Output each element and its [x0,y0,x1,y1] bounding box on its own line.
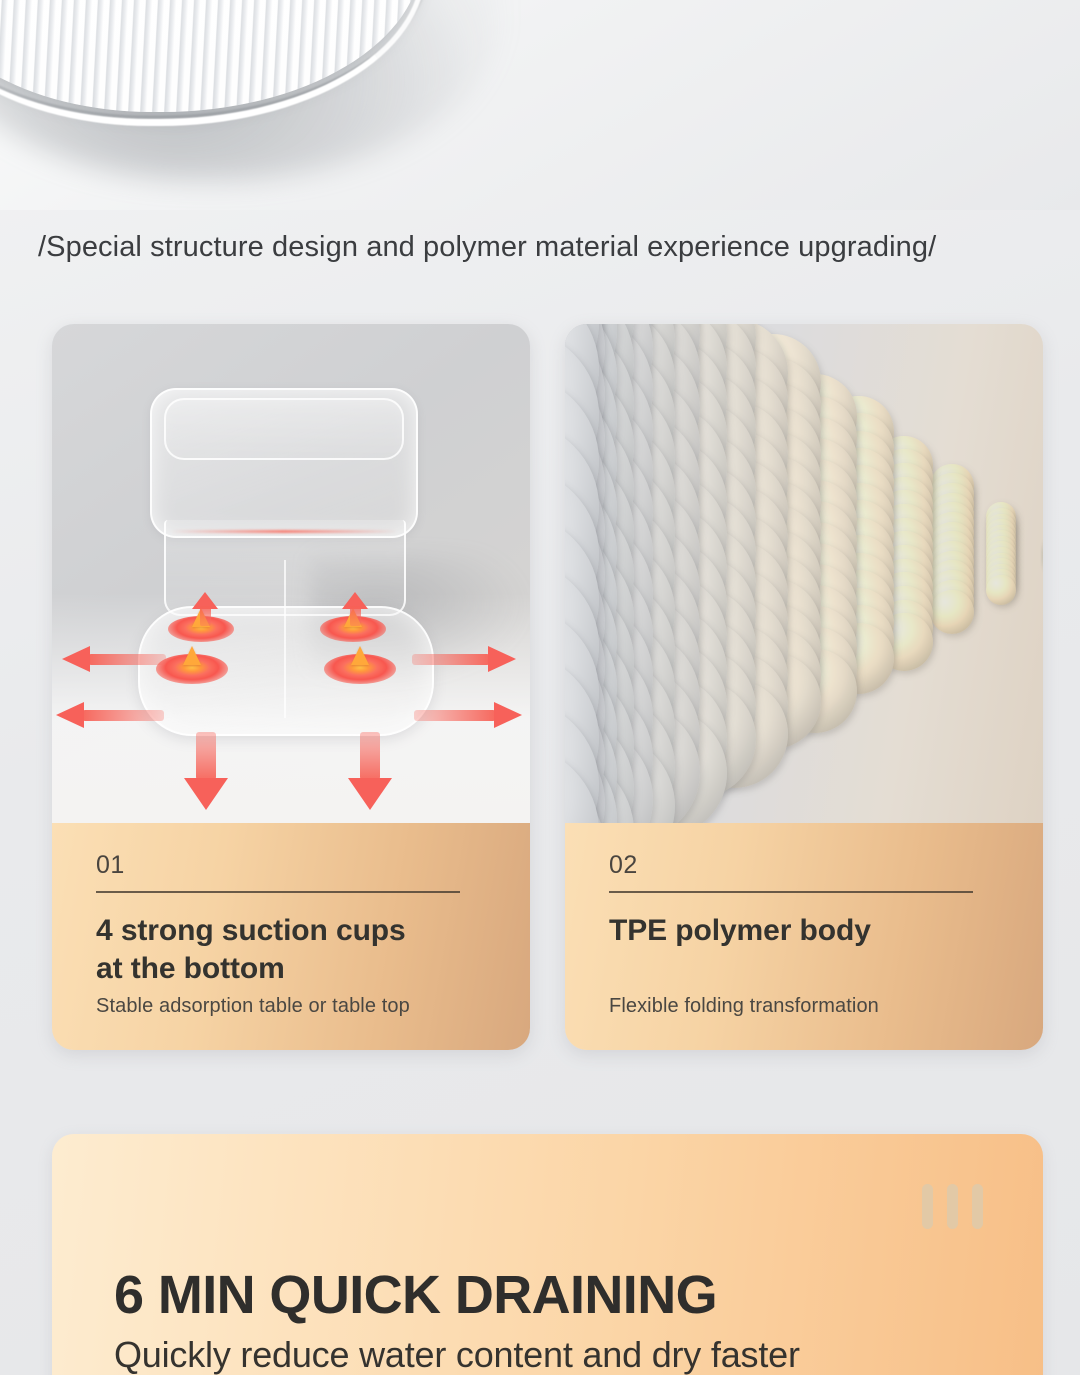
three-bars-icon [922,1184,983,1229]
suction-cup-icon [324,654,396,684]
hero-product-image [0,0,1080,210]
sphere [986,575,1016,605]
container-divider [284,560,286,718]
arrow-right-icon [414,702,522,728]
banner-title: 6 MIN QUICK DRAINING [114,1264,717,1326]
arrow-left-icon [56,702,164,728]
quick-draining-banner[interactable]: 6 MIN QUICK DRAINING Quickly reduce wate… [52,1134,1043,1375]
feature-subtitle: Flexible folding transformation [609,995,879,1018]
feature-number: 01 [96,851,500,880]
feature-subtitle: Stable adsorption table or table top [96,995,410,1018]
divider-rule [609,891,973,893]
sphere [930,590,974,634]
feature-text-panel-01: 01 4 strong suction cups at the bottom S… [52,823,530,1050]
feature-card-02[interactable]: 02 TPE polymer body Flexible folding tra… [565,324,1043,1050]
arrow-up-icon [192,592,218,626]
arrow-left-icon [62,646,166,672]
feature-number: 02 [609,851,1013,880]
arrow-down-icon [348,732,392,810]
container-upper-inner [164,398,404,460]
feature-title: TPE polymer body [609,912,1013,951]
feature-image-02 [565,324,1043,823]
divider-rule [96,891,460,893]
feature-text-panel-02: 02 TPE polymer body Flexible folding tra… [565,823,1043,1050]
arrow-down-icon [184,732,228,810]
sphere-grid-photo [565,324,1043,823]
section-headline: /Special structure design and polymer ma… [38,231,936,264]
feature-card-01[interactable]: 01 4 strong suction cups at the bottom S… [52,324,530,1050]
product-feature-page: /Special structure design and polymer ma… [0,0,1080,1375]
arrow-up-icon [342,592,368,626]
suction-cup-icon [156,654,228,684]
arrow-right-icon [412,646,516,672]
suction-cup-product-photo [52,324,530,823]
banner-subtitle: Quickly reduce water content and dry fas… [114,1334,800,1375]
feature-card-grid: 01 4 strong suction cups at the bottom S… [52,324,1043,1050]
feature-title: 4 strong suction cups at the bottom [96,912,500,989]
container-seal-line [170,530,398,533]
feature-image-01 [52,324,530,823]
